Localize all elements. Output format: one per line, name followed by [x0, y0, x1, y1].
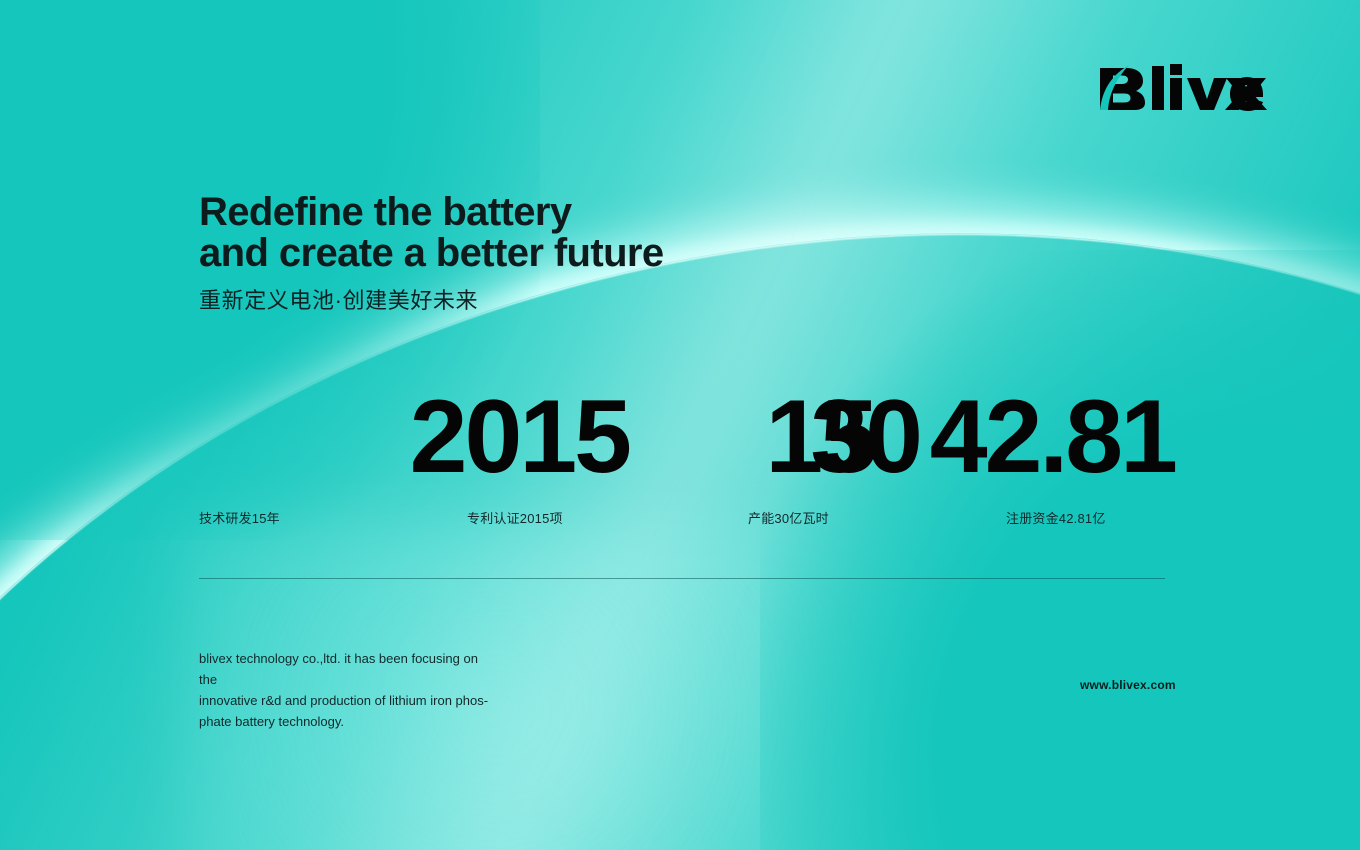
- stat-value: 42.81: [930, 390, 1175, 486]
- stat-label-1: 专利认证2015项: [467, 508, 563, 527]
- stat-item-2: 30: [810, 390, 920, 486]
- stats-labels-row: 技术研发15年 专利认证2015项 产能30亿瓦时 注册资金42.81亿: [199, 508, 1175, 530]
- stat-label-0: 技术研发15年: [199, 508, 280, 527]
- stats-section: 15 2015 30 42.81 技术研发15年 专利认证2015项 产能30亿…: [199, 386, 1175, 530]
- stat-item-3: 42.81: [930, 390, 1175, 486]
- page-title: Redefine the battery and create a better…: [199, 192, 664, 274]
- website-url[interactable]: www.blivex.com: [1080, 678, 1176, 692]
- stat-value: 2015: [410, 390, 629, 486]
- page-subtitle: 重新定义电池·创建美好未来: [199, 283, 478, 315]
- company-description: blivex technology co.,ltd. it has been f…: [199, 648, 499, 732]
- stat-label-3: 注册资金42.81亿: [1006, 508, 1106, 527]
- stat-value: 30: [810, 390, 920, 486]
- leaf-swoosh-icon: [1096, 62, 1268, 114]
- stat-label-2: 产能30亿瓦时: [748, 508, 829, 527]
- horizontal-divider: [199, 578, 1165, 579]
- stats-numbers-row: 15 2015 30 42.81: [199, 386, 1175, 486]
- stat-item-1: 2015: [410, 390, 629, 486]
- page-content: Redefine the battery and create a better…: [0, 0, 1360, 850]
- brand-logo[interactable]: [1096, 62, 1268, 114]
